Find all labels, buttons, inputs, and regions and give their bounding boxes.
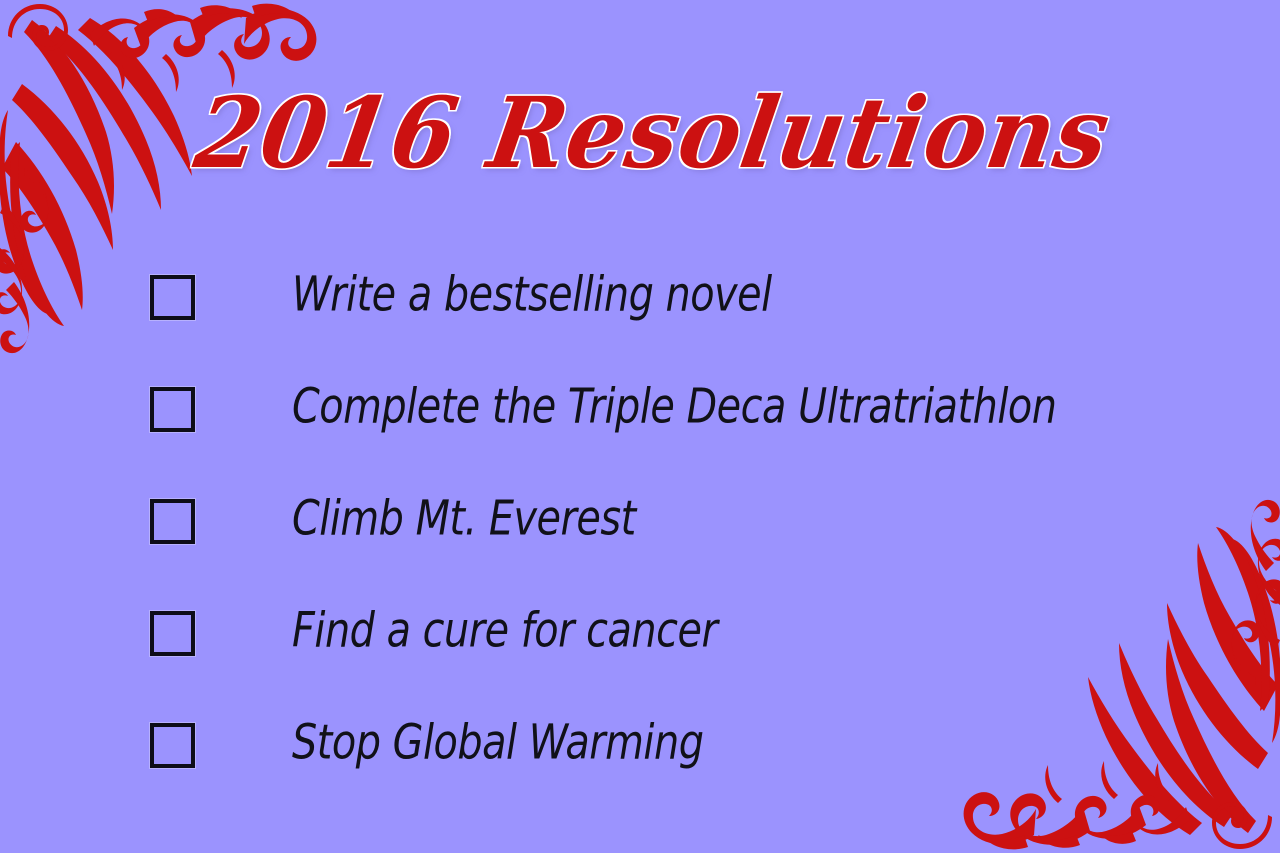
list-item[interactable]: Write a bestselling novel: [150, 256, 1150, 368]
resolution-label: Climb Mt. Everest: [292, 473, 636, 563]
resolution-label: Complete the Triple Deca Ultratriathlon: [292, 361, 1057, 451]
page-title: 2016 Resolutions: [163, 83, 1117, 184]
resolutions-poster: 2016 Resolutions Write a bestselling nov…: [0, 0, 1280, 853]
resolution-label: Stop Global Warming: [292, 697, 703, 787]
checkbox-unchecked-icon[interactable]: [150, 275, 195, 320]
checkbox-unchecked-icon[interactable]: [150, 387, 195, 432]
title-block: 2016 Resolutions: [0, 86, 1280, 182]
checkbox-unchecked-icon[interactable]: [150, 723, 195, 768]
resolution-checklist: Write a bestselling novel Complete the T…: [150, 256, 1150, 816]
list-item[interactable]: Climb Mt. Everest: [150, 480, 1150, 592]
list-item[interactable]: Complete the Triple Deca Ultratriathlon: [150, 368, 1150, 480]
list-item[interactable]: Find a cure for cancer: [150, 592, 1150, 704]
resolution-label: Write a bestselling novel: [292, 249, 772, 339]
resolution-label: Find a cure for cancer: [292, 585, 717, 675]
checkbox-unchecked-icon[interactable]: [150, 499, 195, 544]
checkbox-unchecked-icon[interactable]: [150, 611, 195, 656]
list-item[interactable]: Stop Global Warming: [150, 704, 1150, 816]
